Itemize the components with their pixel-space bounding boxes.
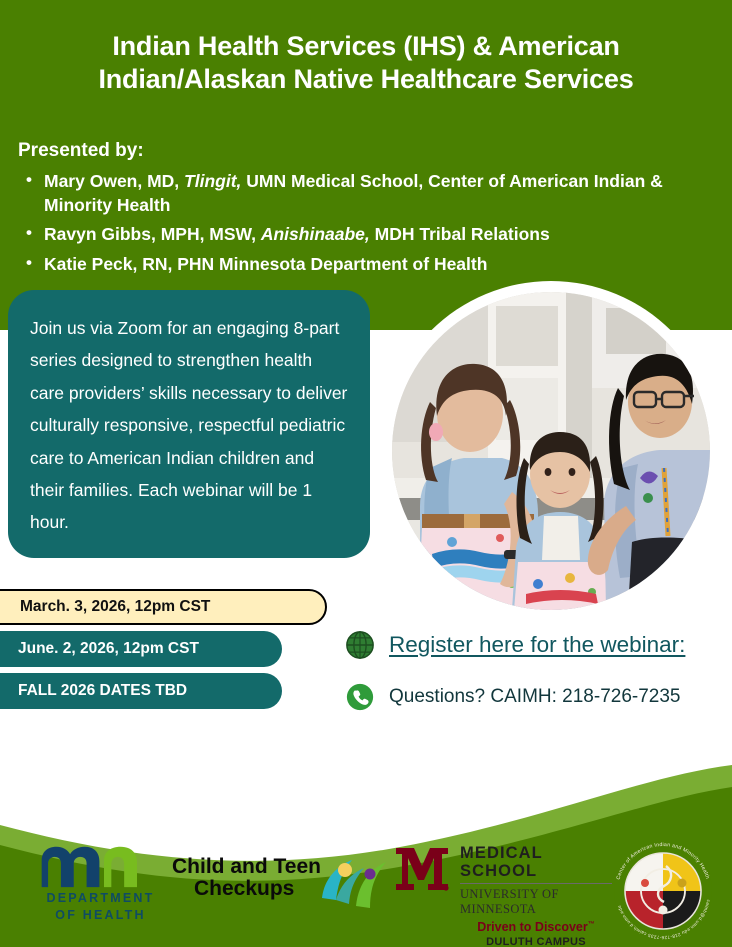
family-photo-illustration [392,292,710,610]
umn-tagline-tm: ™ [588,921,595,928]
mn-wordmark-icon [38,844,157,888]
globe-icon [345,630,375,660]
date-pill-2[interactable]: June. 2, 2026, 12pm CST [0,631,282,667]
umn-tagline-text: Driven to Discover [477,920,587,934]
list-item: Katie Peck, RN, PHN Minnesota Department… [16,253,716,277]
child-teen-checkups-logo: Child and Teen Checkups [172,856,382,900]
presenter-name-role: Katie Peck, RN, PHN Minnesota Department… [44,254,487,274]
presenter-affiliation-tribe: Anishinaabe, [261,224,370,244]
phone-icon [345,682,375,712]
presenter-affiliation-tribe: Tlingit, [184,171,241,191]
list-item: Ravyn Gibbs, MPH, MSW, Anishinaabe, MDH … [16,223,716,247]
presenters-section: Presented by: Mary Owen, MD, Tlingit, UM… [16,140,716,283]
mdh-department-line2: OF HEALTH [38,907,163,924]
title-line-2: Indian/Alaskan Native Healthcare Service… [98,64,633,94]
mdh-department-line1: DEPARTMENT [38,890,163,907]
presented-by-label: Presented by: [18,140,716,162]
umn-m-icon [392,844,452,894]
caimh-medicine-wheel-icon: Center of American Indian and Minority H… [608,836,718,946]
title-line-1: Indian Health Services (IHS) & American [112,31,619,61]
contact-section: Register here for the webinar: Questions… [345,630,685,734]
presenter-list: Mary Owen, MD, Tlingit, UMN Medical Scho… [16,170,716,277]
header: Indian Health Services (IHS) & American … [0,0,732,96]
register-link[interactable]: Register here for the webinar: [389,632,685,658]
presenter-name-role: Ravyn Gibbs, MPH, MSW, [44,224,256,244]
umn-medical-school-logo: MEDICAL SCHOOL UNIVERSITY OF MINNESOTA D… [392,844,607,947]
ctc-swoosh-icon [318,856,390,912]
page-title: Indian Health Services (IHS) & American … [46,30,686,96]
questions-text: Questions? CAIMH: 218-726-7235 [389,686,681,708]
questions-row: Questions? CAIMH: 218-726-7235 [345,682,685,712]
umn-campus-text: DULUTH CAMPUS [460,936,612,947]
flyer-page: Indian Health Services (IHS) & American … [0,0,732,947]
presenter-name-role: Mary Owen, MD, [44,171,179,191]
date-label: March. 3, 2026, 12pm CST [20,598,210,616]
umn-tagline: Driven to Discover™ [460,920,612,934]
list-item: Mary Owen, MD, Tlingit, UMN Medical Scho… [16,170,716,217]
caimh-logo: Center of American Indian and Minority H… [608,836,718,946]
date-pill-1[interactable]: March. 3, 2026, 12pm CST [0,589,327,625]
date-label: FALL 2026 DATES TBD [18,682,187,700]
umn-medical-school-text: MEDICAL SCHOOL [460,844,612,880]
mdh-logo: DEPARTMENT OF HEALTH [38,844,163,924]
footer-logos: DEPARTMENT OF HEALTH Child and Teen Chec… [0,822,732,947]
date-label: June. 2, 2026, 12pm CST [18,640,199,658]
register-row[interactable]: Register here for the webinar: [345,630,685,660]
date-pill-3[interactable]: FALL 2026 DATES TBD [0,673,282,709]
family-photo [392,292,710,610]
presenter-org: MDH Tribal Relations [375,224,550,244]
description-card: Join us via Zoom for an engaging 8-part … [8,290,370,558]
date-list: March. 3, 2026, 12pm CST June. 2, 2026, … [0,589,327,715]
umn-university-text: UNIVERSITY OF MINNESOTA [460,887,612,917]
umn-divider [460,883,612,884]
description-text: Join us via Zoom for an engaging 8-part … [30,312,348,539]
